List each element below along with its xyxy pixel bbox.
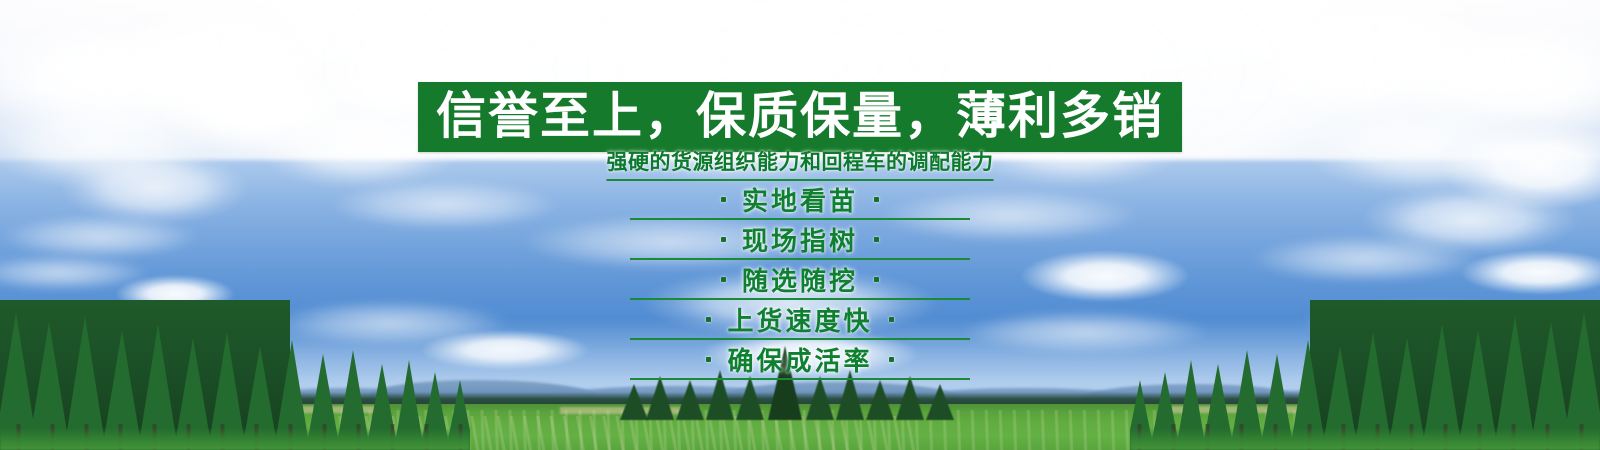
- bullet-dot-icon: [874, 197, 879, 202]
- conifer-tree: [896, 376, 924, 420]
- bullet-dot-icon: [889, 317, 894, 322]
- feature-item: 确保成活率: [630, 340, 970, 380]
- feature-label: 现场指树: [742, 221, 858, 258]
- forest-understory: [0, 428, 470, 450]
- cloud-puff: [1460, 250, 1600, 295]
- conifer-tree: [620, 384, 648, 420]
- bullet-dot-icon: [874, 277, 879, 282]
- feature-item: 上货速度快: [630, 300, 970, 340]
- conifer-tree: [806, 376, 834, 420]
- bullet-dot-icon: [706, 357, 711, 362]
- feature-label: 确保成活率: [727, 341, 872, 378]
- bullet-dot-icon: [706, 317, 711, 322]
- feature-item: 实地看苗: [630, 180, 970, 220]
- cloud-puff: [1020, 250, 1190, 302]
- bullet-dot-icon: [721, 237, 726, 242]
- forest-understory: [1130, 428, 1600, 450]
- forest-right: [1130, 300, 1600, 450]
- feature-item: 现场指树: [630, 220, 970, 260]
- cloud-wisp: [1250, 235, 1480, 283]
- forest-left: [0, 300, 470, 450]
- feature-item: 随选随挖: [630, 260, 970, 300]
- bullet-dot-icon: [721, 277, 726, 282]
- cloud-puff: [60, 150, 250, 225]
- feature-label: 实地看苗: [742, 181, 858, 218]
- bullet-dot-icon: [889, 357, 894, 362]
- conifer-tree: [866, 380, 894, 420]
- conifer-tree: [926, 384, 954, 420]
- cloud-wisp: [330, 180, 560, 230]
- headline-text: 信誉至上，保质保量，薄利多销: [418, 82, 1182, 152]
- feature-list: 实地看苗 现场指树 随选随挖 上货速度快 确保成活率: [630, 180, 970, 380]
- conifer-tree: [736, 376, 764, 420]
- cloud-wisp: [0, 215, 200, 259]
- subtitle-container: 强硬的货源组织能力和回程车的调配能力: [607, 146, 994, 181]
- conifer-tree: [676, 380, 704, 420]
- promo-banner: 信誉至上，保质保量，薄利多销 强硬的货源组织能力和回程车的调配能力 实地看苗 现…: [0, 0, 1600, 450]
- subtitle-text: 强硬的货源组织能力和回程车的调配能力: [607, 146, 994, 181]
- feature-label: 随选随挖: [742, 261, 858, 298]
- feature-label: 上货速度快: [727, 301, 872, 338]
- conifer-tree: [646, 376, 674, 420]
- bullet-dot-icon: [874, 237, 879, 242]
- headline-container: 信誉至上，保质保量，薄利多销: [418, 82, 1182, 152]
- bullet-dot-icon: [721, 197, 726, 202]
